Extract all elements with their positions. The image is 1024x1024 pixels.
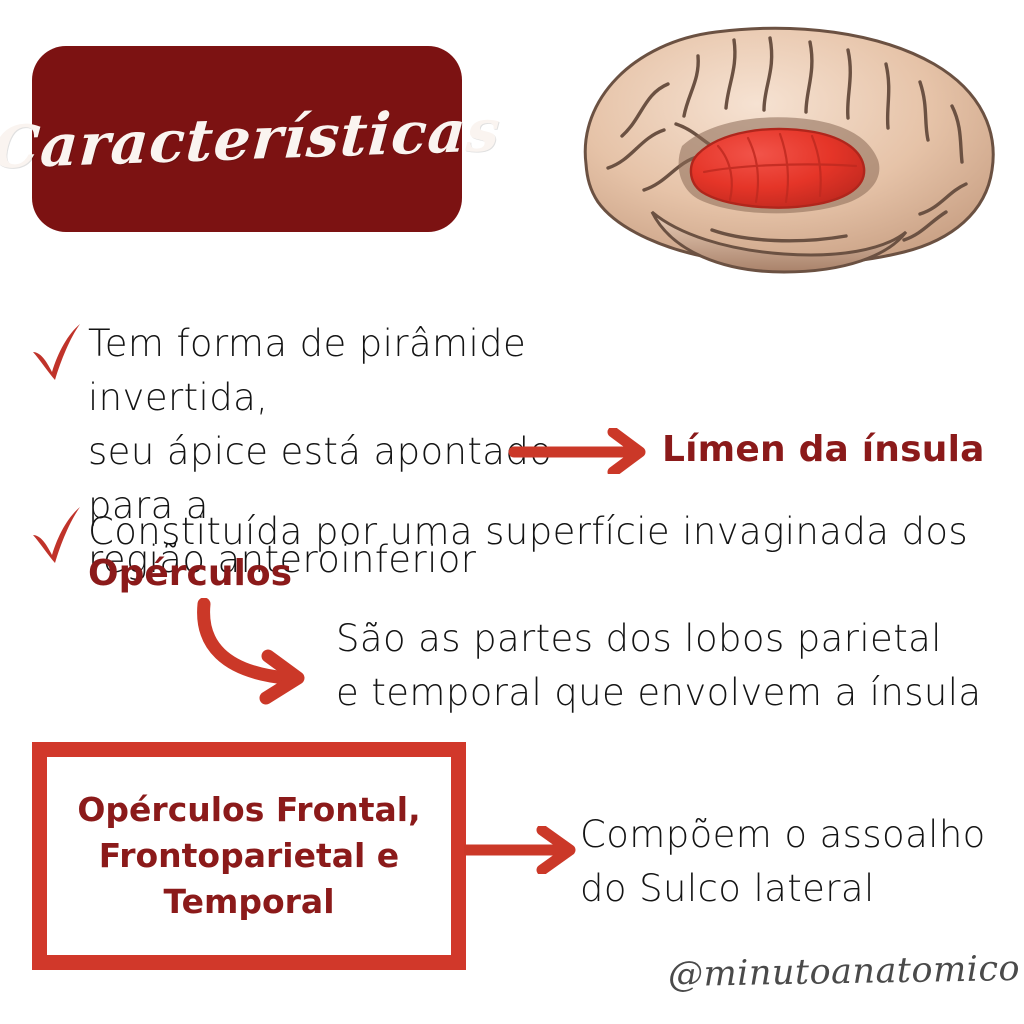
header-banner: Características (32, 46, 462, 232)
bullet-2-line-1: Constituída por uma superfície invaginad… (88, 505, 1018, 559)
red-box-note: Compõem o assoalho do Sulco lateral (580, 808, 1020, 916)
operculos-box-text: Opérculos Frontal, Frontoparietal e Temp… (77, 787, 420, 925)
operculos-box-line-3: Temporal (77, 879, 420, 925)
bullet-2-sub-line-2: e temporal que envolvem a ínsula (336, 666, 1024, 720)
watermark-handle: @minutoanatomico (668, 949, 1021, 995)
arrow-curved-down-right-icon (190, 598, 336, 706)
bullet-2-subnote: São as partes dos lobos parietal e tempo… (336, 612, 1024, 720)
arrow-right-icon (508, 428, 654, 474)
brain-illustration (548, 14, 1012, 302)
bullet-1-line-1: Tem forma de pirâmide invertida, (88, 317, 558, 425)
arrow-right-icon (464, 826, 584, 874)
operculos-highlight-box: Opérculos Frontal, Frontoparietal e Temp… (32, 742, 466, 970)
page-title: Características (0, 96, 503, 182)
red-box-note-line-1: Compõem o assoalho (580, 808, 1020, 862)
callout-operculos: Opérculos (88, 552, 292, 596)
operculos-box-line-2: Frontoparietal e (77, 833, 420, 879)
bullet-2-text: Constituída por uma superfície invaginad… (88, 505, 1018, 559)
callout-limen-da-insula: Límen da ínsula (662, 428, 985, 472)
check-icon (28, 505, 84, 567)
infographic-canvas: Características (0, 0, 1024, 1024)
check-icon (28, 322, 84, 384)
operculos-box-line-1: Opérculos Frontal, (77, 787, 420, 833)
red-box-note-line-2: do Sulco lateral (580, 862, 1020, 916)
bullet-2-sub-line-1: São as partes dos lobos parietal (336, 612, 1024, 666)
